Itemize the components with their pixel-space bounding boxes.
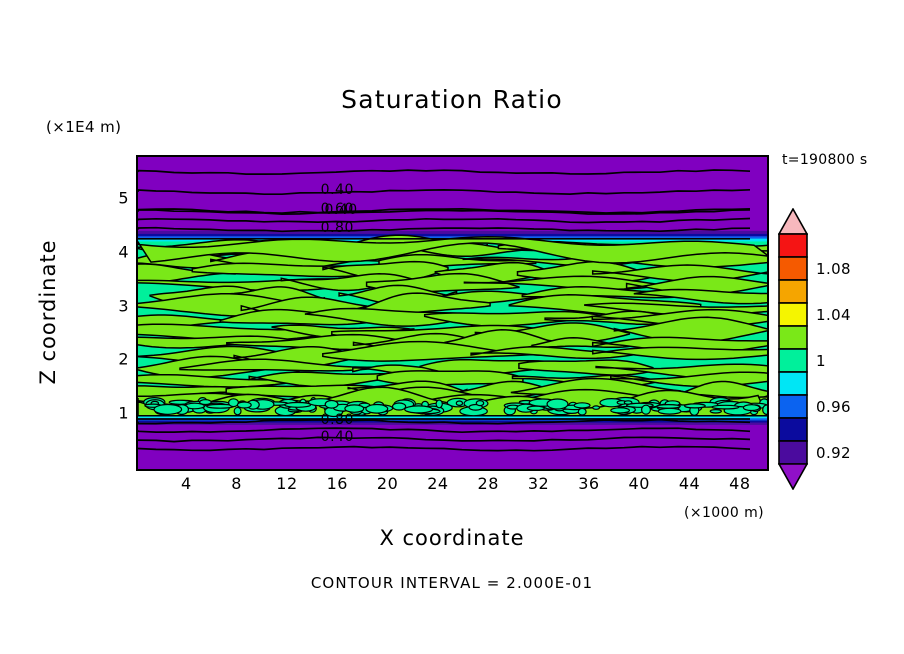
y-tick-major — [136, 200, 138, 202]
y-tick-minor — [136, 335, 138, 337]
colorbar-band[interactable] — [779, 349, 807, 372]
y-tick-label: 1 — [89, 404, 129, 423]
y-tick-major — [136, 415, 138, 417]
colorbar-tick-label: 0.96 — [816, 398, 851, 416]
x-tick-label: 36 — [578, 474, 599, 493]
colorbar-band[interactable] — [779, 303, 807, 326]
y-tick-minor — [136, 173, 138, 175]
x-tick-minor — [515, 469, 517, 471]
speckle — [574, 403, 590, 408]
x-tick-minor — [415, 469, 417, 471]
colorbar-tick-label: 0.92 — [816, 444, 851, 462]
x-tick-major — [339, 469, 341, 471]
x-tick-label: 28 — [478, 474, 499, 493]
contour-interval-caption: CONTOUR INTERVAL = 2.000E-01 — [0, 574, 904, 592]
x-tick-minor — [264, 469, 266, 471]
colorbar-tick-label: 1 — [816, 352, 826, 370]
x-tick-minor — [717, 469, 719, 471]
x-tick-minor — [163, 469, 165, 471]
speckle — [743, 405, 759, 411]
x-tick-major — [742, 469, 744, 471]
x-tick-label: 44 — [679, 474, 700, 493]
x-tick-minor — [314, 469, 316, 471]
colorbar[interactable] — [778, 208, 808, 490]
x-tick-major — [188, 469, 190, 471]
speckle — [611, 408, 630, 413]
x-tick-label: 24 — [427, 474, 448, 493]
x-tick-major — [591, 469, 593, 471]
y-tick-label: 4 — [89, 242, 129, 261]
speckle — [154, 405, 182, 415]
x-tick-major — [641, 469, 643, 471]
x-tick-minor — [616, 469, 618, 471]
x-tick-major — [490, 469, 492, 471]
x-tick-label: 8 — [231, 474, 242, 493]
colorbar-tick-label: 1.08 — [816, 260, 851, 278]
x-tick-major — [289, 469, 291, 471]
speckle — [685, 404, 706, 408]
y-tick-major — [136, 254, 138, 256]
y-tick-label: 2 — [89, 350, 129, 369]
contour-value-label: 0.80 — [321, 412, 354, 428]
y-tick-minor — [136, 227, 138, 229]
speckle — [237, 402, 251, 408]
x-tick-major — [692, 469, 694, 471]
colorbar-band[interactable] — [779, 372, 807, 395]
colorbar-tick-label: 1.04 — [816, 306, 851, 324]
y-tick-label: 3 — [89, 296, 129, 315]
y-tick-minor — [136, 442, 138, 444]
x-tick-label: 16 — [327, 474, 348, 493]
speckle — [527, 406, 544, 410]
x-tick-major — [541, 469, 543, 471]
time-annotation: t=190800 s — [782, 152, 867, 168]
speckle — [657, 405, 681, 409]
y-axis-label: Z coordinate — [36, 202, 60, 422]
y-axis-unit: (×1E4 m) — [46, 118, 121, 136]
colorbar-band[interactable] — [779, 395, 807, 418]
x-axis-unit: (×1000 m) — [684, 505, 764, 521]
speckle — [436, 400, 442, 408]
speckle — [325, 401, 338, 409]
contour-value-label: 0.40 — [321, 429, 354, 445]
x-axis-label: X coordinate — [0, 526, 904, 550]
colorbar-over-cap — [779, 209, 807, 234]
speckle — [366, 405, 388, 414]
colorbar-band[interactable] — [779, 326, 807, 349]
x-tick-major — [440, 469, 442, 471]
speckle — [476, 401, 483, 406]
colorbar-band[interactable] — [779, 441, 807, 464]
y-tick-minor — [136, 388, 138, 390]
colorbar-swatches — [778, 208, 808, 490]
x-tick-minor — [364, 469, 366, 471]
x-tick-minor — [465, 469, 467, 471]
contour-value-label: 0.40 — [321, 182, 354, 198]
speckle — [658, 408, 681, 414]
colorbar-band[interactable] — [779, 234, 807, 257]
speckle — [593, 406, 600, 409]
speckle — [547, 399, 568, 409]
y-tick-major — [136, 308, 138, 310]
speckle — [763, 405, 767, 414]
contour-plot — [136, 155, 769, 471]
contour-value-label: 0.80 — [321, 220, 354, 236]
colorbar-band[interactable] — [779, 280, 807, 303]
upper-transition-navy — [138, 234, 767, 237]
x-tick-major — [239, 469, 241, 471]
speckle — [642, 405, 651, 414]
contour-value-label: 0.40 — [324, 202, 357, 218]
page-title: Saturation Ratio — [0, 85, 904, 114]
speckle — [578, 408, 586, 415]
y-tick-major — [136, 361, 138, 363]
x-tick-major — [390, 469, 392, 471]
speckle — [234, 407, 241, 414]
speckle — [710, 410, 721, 413]
speckle — [456, 401, 462, 405]
x-tick-label: 40 — [629, 474, 650, 493]
speckle — [624, 401, 632, 404]
x-tick-minor — [566, 469, 568, 471]
x-tick-minor — [666, 469, 668, 471]
y-tick-minor — [136, 281, 138, 283]
x-tick-minor — [213, 469, 215, 471]
colorbar-band[interactable] — [779, 257, 807, 280]
speckle — [200, 400, 212, 405]
y-tick-label: 5 — [89, 189, 129, 208]
x-tick-label: 48 — [729, 474, 750, 493]
speckle — [285, 403, 311, 408]
x-tick-label: 12 — [276, 474, 297, 493]
speckle — [405, 406, 433, 413]
speckle — [393, 403, 406, 410]
x-tick-label: 32 — [528, 474, 549, 493]
colorbar-band[interactable] — [779, 418, 807, 441]
x-tick-label: 20 — [377, 474, 398, 493]
contour-field — [138, 157, 767, 469]
speckle — [712, 405, 739, 409]
colorbar-under-cap — [779, 464, 807, 489]
x-tick-label: 4 — [181, 474, 192, 493]
